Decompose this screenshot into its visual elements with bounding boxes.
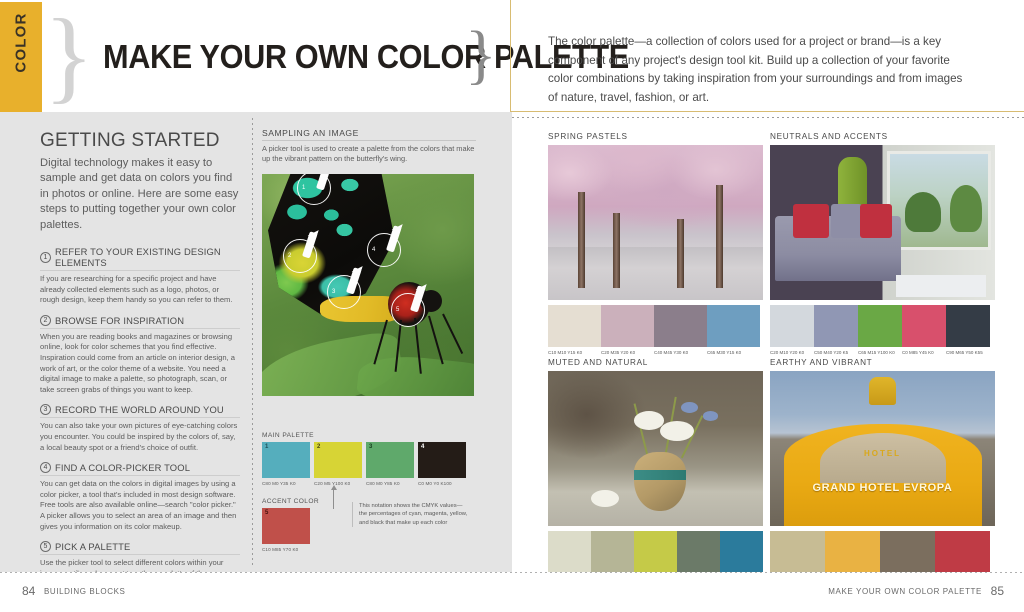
swatch-color [858, 305, 902, 347]
swatch-code: C90 M65 Y50 K55 [946, 350, 990, 355]
hotel-sign-text: GRAND HOTEL EVROPA [793, 478, 973, 498]
living-room-image [770, 145, 995, 300]
swatch-color: 1 [262, 442, 310, 478]
step-body: When you are reading books and magazines… [40, 332, 240, 396]
column-divider [252, 118, 253, 566]
callout-arrow-icon [333, 489, 334, 509]
palette-swatches: C20 M10 Y20 K0 C50 M40 Y20 K5 C65 M15 Y1… [770, 305, 995, 355]
butterfly-legs [380, 314, 472, 392]
swatch-code: C10 M85 Y70 K0 [262, 547, 332, 552]
step-item: 4 FIND A COLOR-PICKER TOOL You can get d… [40, 462, 240, 532]
swatch-color [707, 305, 760, 347]
step-title: FIND A COLOR-PICKER TOOL [55, 462, 190, 473]
swatch-code: C50 M40 Y20 K5 [814, 350, 858, 355]
swatch-number: 1 [265, 444, 268, 450]
swatch-number: 4 [421, 444, 424, 450]
swatch[interactable]: C65 M30 Y15 K0 [707, 305, 760, 355]
swatch-color [677, 531, 720, 573]
getting-started-column: GETTING STARTED Digital technology makes… [40, 130, 240, 612]
swatch-number: 2 [317, 444, 320, 450]
palette-muted-natural: MUTED AND NATURAL C15 M5 Y20 K0 [548, 358, 763, 581]
step-title: PICK A PALETTE [55, 541, 130, 552]
step-body: If you are researching for a specific pr… [40, 274, 240, 306]
step-title: RECORD THE WORLD AROUND YOU [55, 404, 224, 415]
picker-number: 1 [302, 185, 305, 191]
palette-earthy-vibrant: EARTHY AND VIBRANT HOTEL GRAND HOTEL EVR… [770, 358, 995, 581]
picker-number: 2 [288, 253, 291, 259]
brace-close-icon: } [465, 22, 497, 88]
step-title: REFER TO YOUR EXISTING DESIGN ELEMENTS [55, 246, 240, 268]
step-number: 5 [40, 541, 51, 552]
palette-title: SPRING PASTELS [548, 132, 763, 141]
palette-photo: HOTEL GRAND HOTEL EVROPA [770, 371, 995, 526]
swatch-code: C20 M10 Y20 K0 [770, 350, 814, 355]
cmyk-callout: This notation shows the CMYK values—the … [352, 502, 468, 527]
brace-open-icon: } [44, 6, 94, 106]
main-palette-swatches: 1 C80 M0 Y35 K0 2 C20 M5 Y100 K0 3 C80 M… [262, 442, 476, 486]
picker-number: 3 [332, 289, 335, 295]
palette-photo [548, 371, 763, 526]
swatch-color [720, 531, 763, 573]
gold-rule-vertical [510, 0, 511, 112]
swatch[interactable]: C20 M35 Y20 K0 [601, 305, 654, 355]
page-number-right: 85 [991, 584, 1004, 598]
swatch-color [825, 531, 880, 573]
main-palette-label: MAIN PALETTE [262, 432, 476, 439]
swatch[interactable]: 2 C20 M5 Y100 K0 [314, 442, 362, 486]
grand-hotel-europa-image: HOTEL GRAND HOTEL EVROPA [770, 371, 995, 526]
swatch-color: 4 [418, 442, 466, 478]
swatch[interactable]: C90 M65 Y50 K55 [946, 305, 990, 355]
getting-started-lede: Digital technology makes it easy to samp… [40, 156, 240, 233]
palette-title: EARTHY AND VIBRANT [770, 358, 995, 367]
swatch-color [591, 531, 634, 573]
swatch-code: C65 M15 Y100 K0 [858, 350, 902, 355]
swatch-code: C40 M45 Y30 K0 [654, 350, 707, 355]
swatch-color: 5 [262, 508, 310, 544]
cherry-blossom-image [548, 145, 763, 300]
swatch[interactable]: C10 M10 Y15 K0 [548, 305, 601, 355]
swatch-color [814, 305, 858, 347]
swatch-color [935, 531, 990, 573]
footer-text-right: MAKE YOUR OWN COLOR PALETTE [828, 587, 982, 596]
page-number-left: 84 [22, 584, 35, 598]
page-header: COLOR } MAKE YOUR OWN COLOR PALETTE } Th… [0, 0, 1024, 112]
step-item: 2 BROWSE FOR INSPIRATION When you are re… [40, 315, 240, 396]
swatch-code: C80 M0 Y85 K0 [366, 481, 414, 486]
palette-photo [548, 145, 763, 300]
right-page-top-divider [512, 117, 1024, 118]
swatch-number: 5 [265, 510, 268, 516]
swatch-color [654, 305, 707, 347]
palette-spring-pastels: SPRING PASTELS C10 M10 Y15 K0 C20 M35 Y2… [548, 132, 763, 355]
step-item: 3 RECORD THE WORLD AROUND YOU You can al… [40, 404, 240, 453]
palette-title: MUTED AND NATURAL [548, 358, 763, 367]
picker-number: 4 [372, 247, 375, 253]
step-body: You can also take your own pictures of e… [40, 421, 240, 453]
step-number: 2 [40, 315, 51, 326]
swatch[interactable]: C50 M40 Y20 K5 [814, 305, 858, 355]
swatch-color [880, 531, 935, 573]
getting-started-heading: GETTING STARTED [40, 130, 240, 152]
swatch-color: 2 [314, 442, 362, 478]
swatch[interactable]: C0 M85 Y45 K0 [902, 305, 946, 355]
swatch-code: C0 M85 Y45 K0 [902, 350, 946, 355]
swatch-number: 3 [369, 444, 372, 450]
book-spread: COLOR } MAKE YOUR OWN COLOR PALETTE } Th… [0, 0, 1024, 612]
step-number: 3 [40, 404, 51, 415]
swatch-color [902, 305, 946, 347]
intro-paragraph: The color palette—a collection of colors… [548, 33, 968, 107]
swatch-color [548, 531, 591, 573]
swatch-code: C20 M5 Y100 K0 [314, 481, 362, 486]
step-title: BROWSE FOR INSPIRATION [55, 315, 184, 326]
swatch-color: 3 [366, 442, 414, 478]
palette-neutrals-accents: NEUTRALS AND ACCENTS C20 M10 Y20 K0 [770, 132, 995, 355]
swatch[interactable]: C40 M45 Y30 K0 [654, 305, 707, 355]
picker-number: 5 [396, 307, 399, 313]
accent-color-block: ACCENT COLOR 5 C10 M85 Y70 K0 [262, 498, 332, 552]
palette-title: NEUTRALS AND ACCENTS [770, 132, 995, 141]
footer-text-left: BUILDING BLOCKS [44, 587, 125, 596]
swatch-color [601, 305, 654, 347]
swatch[interactable]: 1 C80 M0 Y35 K0 [262, 442, 310, 486]
swatch-code: C0 M0 Y0 K100 [418, 481, 466, 486]
accent-color-label: ACCENT COLOR [262, 498, 332, 505]
swatch-color [946, 305, 990, 347]
step-body: You can get data on the colors in digita… [40, 479, 240, 532]
step-number: 1 [40, 252, 51, 263]
swatch[interactable]: C65 M15 Y100 K0 [858, 305, 902, 355]
swatch[interactable]: 4 C0 M0 Y0 K100 [418, 442, 466, 486]
swatch-code: C20 M35 Y20 K0 [601, 350, 654, 355]
sampling-body: A picker tool is used to create a palett… [262, 144, 476, 164]
swatch-code: C65 M30 Y15 K0 [707, 350, 760, 355]
page-footer: 84 BUILDING BLOCKS MAKE YOUR OWN COLOR P… [0, 572, 1024, 612]
main-palette: MAIN PALETTE 1 C80 M0 Y35 K0 2 C20 M5 Y1… [262, 432, 476, 486]
swatch-color [548, 305, 601, 347]
sampling-column: SAMPLING AN IMAGE A picker tool is used … [262, 128, 476, 396]
chapter-tab-label: COLOR [13, 0, 30, 86]
step-item: 1 REFER TO YOUR EXISTING DESIGN ELEMENTS… [40, 246, 240, 306]
swatch-code: C80 M0 Y35 K0 [262, 481, 310, 486]
swatch[interactable]: C20 M10 Y20 K0 [770, 305, 814, 355]
footer-divider [0, 572, 1024, 573]
chapter-tab: COLOR [0, 2, 42, 112]
step-number: 4 [40, 462, 51, 473]
sampling-heading: SAMPLING AN IMAGE [262, 128, 476, 141]
swatch[interactable]: 5 C10 M85 Y70 K0 [262, 508, 332, 552]
swatch-color [770, 531, 825, 573]
steps-list: 1 REFER TO YOUR EXISTING DESIGN ELEMENTS… [40, 246, 240, 612]
palette-swatches: C10 M10 Y15 K0 C20 M35 Y20 K0 C40 M45 Y3… [548, 305, 763, 355]
still-life-image [548, 371, 763, 526]
butterfly-photo: 1 2 3 4 5 [262, 174, 474, 396]
palette-photo [770, 145, 995, 300]
swatch-code: C10 M10 Y15 K0 [548, 350, 601, 355]
swatch-color [634, 531, 677, 573]
swatch[interactable]: 3 C80 M0 Y85 K0 [366, 442, 414, 486]
swatch-color [770, 305, 814, 347]
hotel-word: HOTEL [851, 449, 914, 458]
